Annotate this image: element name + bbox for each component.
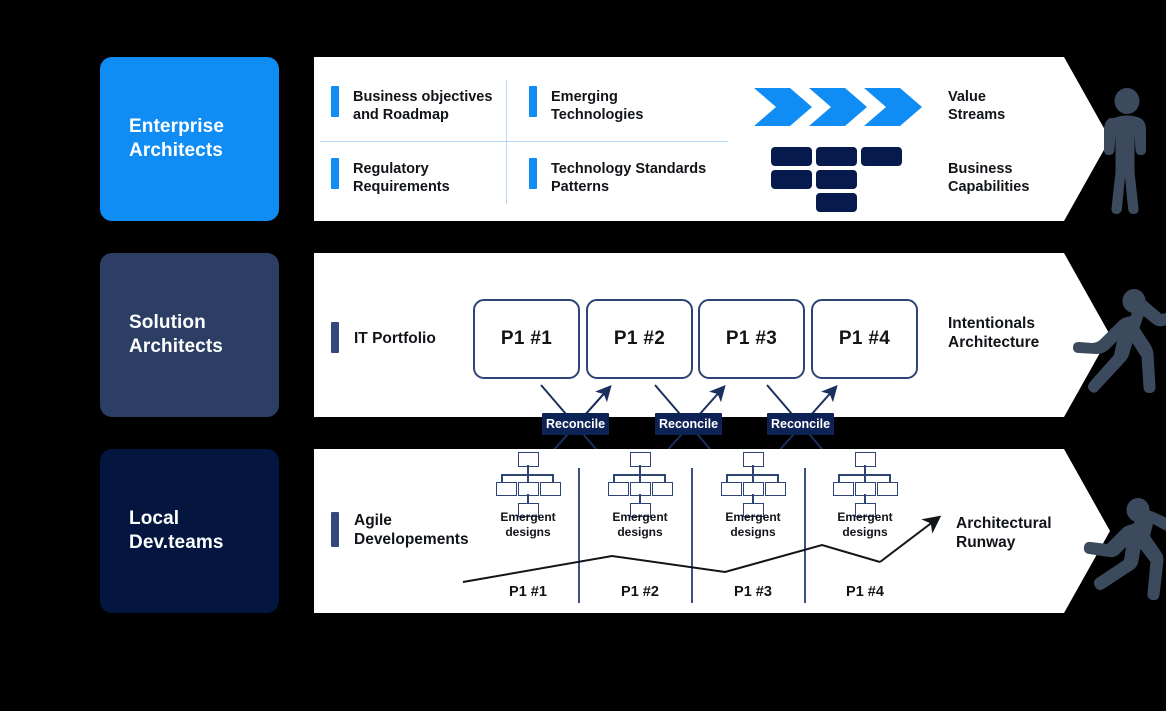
reconcile-chip-label: Reconcile bbox=[659, 417, 718, 431]
node-caption: Emergent designs bbox=[718, 510, 788, 540]
node-caption: Emergent designs bbox=[493, 510, 563, 540]
org-chart-icon bbox=[721, 452, 783, 502]
tick-regulatory-requirements bbox=[331, 158, 339, 189]
tick-technology-standards bbox=[529, 158, 537, 189]
pi-box[interactable]: P1 #2 bbox=[586, 299, 693, 379]
phase-separator bbox=[804, 468, 806, 603]
output-architectural-runway-label: Architectural Runway bbox=[956, 514, 1106, 553]
phase-label: P1 #3 bbox=[718, 583, 788, 601]
tick-business-objectives bbox=[331, 86, 339, 117]
capability-block bbox=[816, 147, 857, 166]
divider-horizontal bbox=[320, 141, 728, 142]
role-card-solution-label: Solution Architects bbox=[129, 311, 223, 360]
pi-box[interactable]: P1 #4 bbox=[811, 299, 918, 379]
org-chart-icon bbox=[608, 452, 670, 502]
role-card-solution[interactable]: Solution Architects bbox=[100, 253, 279, 417]
pi-box-label: P1 #4 bbox=[839, 328, 890, 350]
lane-label-agile-developements: Agile Developements bbox=[354, 511, 514, 550]
band-enterprise bbox=[314, 57, 1054, 221]
capability-block bbox=[861, 147, 902, 166]
reconcile-chip[interactable]: Reconcile bbox=[542, 413, 609, 435]
reconcile-chip-label: Reconcile bbox=[546, 417, 605, 431]
phase-separator bbox=[578, 468, 580, 603]
phase-separator bbox=[691, 468, 693, 603]
role-card-enterprise-label: Enterprise Architects bbox=[129, 115, 224, 164]
role-card-enterprise[interactable]: Enterprise Architects bbox=[100, 57, 279, 221]
tick-agile-developements bbox=[331, 512, 339, 547]
pi-box-label: P1 #1 bbox=[501, 328, 552, 350]
node-caption: Emergent designs bbox=[830, 510, 900, 540]
pi-box-label: P1 #3 bbox=[726, 328, 777, 350]
output-value-streams-label: Value Streams bbox=[948, 88, 1068, 124]
tick-it-portfolio bbox=[331, 322, 339, 353]
reconcile-chip[interactable]: Reconcile bbox=[655, 413, 722, 435]
pi-box[interactable]: P1 #3 bbox=[698, 299, 805, 379]
item-regulatory-requirements: Regulatory Requirements bbox=[353, 160, 528, 196]
org-chart-icon bbox=[496, 452, 558, 502]
capability-block bbox=[771, 147, 812, 166]
phase-label: P1 #1 bbox=[493, 583, 563, 601]
output-intentional-architecture-label: Intentionals Architecture bbox=[948, 314, 1098, 353]
tick-emerging-technologies bbox=[529, 86, 537, 117]
lane-label-it-portfolio: IT Portfolio bbox=[354, 329, 484, 348]
node-caption: Emergent designs bbox=[605, 510, 675, 540]
pi-box-label: P1 #2 bbox=[614, 328, 665, 350]
output-business-capabilities-label: Business Capabilities bbox=[948, 160, 1088, 196]
capability-block bbox=[816, 170, 857, 189]
reconcile-chip-label: Reconcile bbox=[771, 417, 830, 431]
divider-vertical bbox=[506, 80, 507, 204]
phase-label: P1 #2 bbox=[605, 583, 675, 601]
diagram-canvas: Enterprise Architects Business objective… bbox=[0, 0, 1166, 711]
pi-box[interactable]: P1 #1 bbox=[473, 299, 580, 379]
reconcile-chip[interactable]: Reconcile bbox=[767, 413, 834, 435]
phase-label: P1 #4 bbox=[830, 583, 900, 601]
role-card-devteams[interactable]: Local Dev.teams bbox=[100, 449, 279, 613]
item-emerging-technologies: Emerging Technologies bbox=[551, 88, 721, 124]
role-card-devteams-label: Local Dev.teams bbox=[129, 507, 224, 556]
item-business-objectives: Business objectives and Roadmap bbox=[353, 88, 528, 124]
item-technology-standards: Technology Standards Patterns bbox=[551, 160, 751, 196]
org-chart-icon bbox=[833, 452, 895, 502]
capability-block bbox=[771, 170, 812, 189]
capability-block bbox=[816, 193, 857, 212]
